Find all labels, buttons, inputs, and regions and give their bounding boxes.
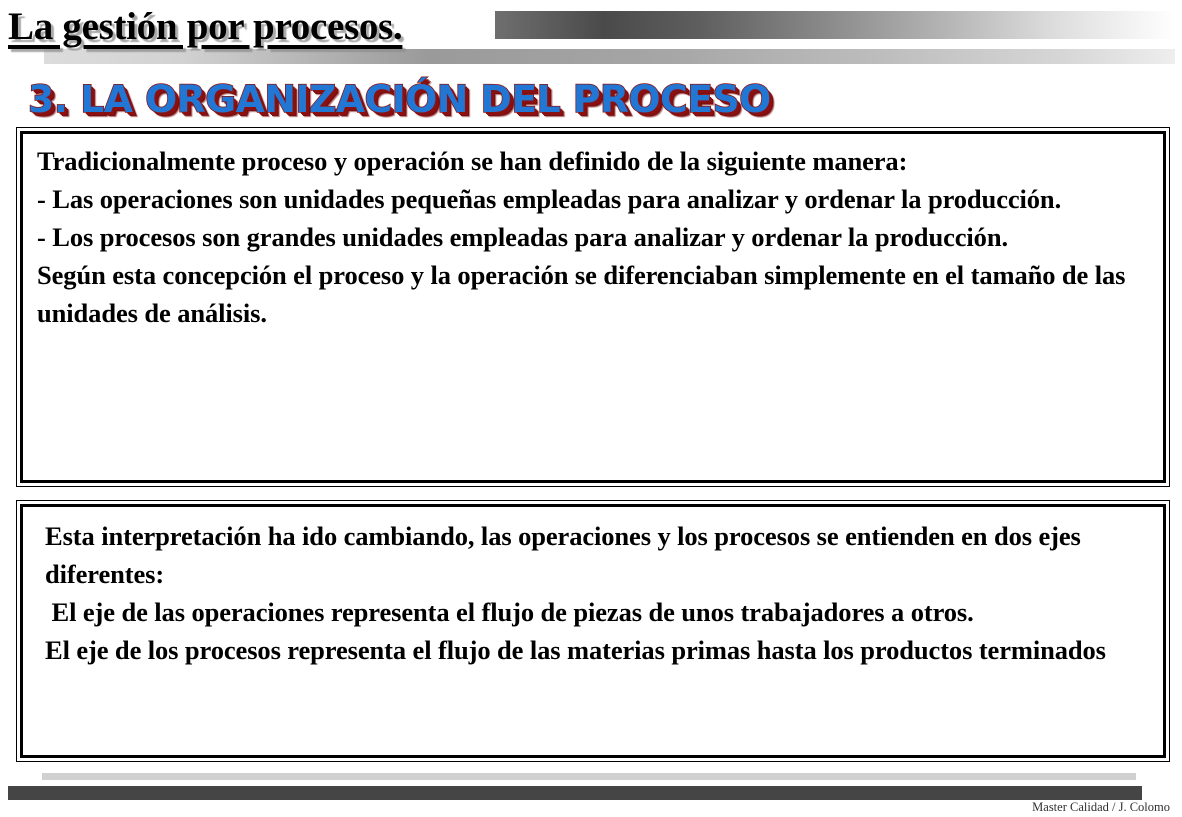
- content-box-definitions: Tradicionalmente proceso y operación se …: [16, 127, 1170, 487]
- slide-header: La gestión por procesos.: [0, 0, 1182, 70]
- content-box-inner-frame: Esta interpretación ha ido cambiando, la…: [20, 504, 1166, 758]
- footer-credit: Master Calidad / J. Colomo: [1032, 800, 1170, 815]
- content-box-text: Tradicionalmente proceso y operación se …: [37, 142, 1151, 476]
- header-gradient-bar-second: [44, 49, 1175, 64]
- content-box-text: Esta interpretación ha ido cambiando, la…: [45, 517, 1151, 751]
- page-title: La gestión por procesos.: [8, 4, 402, 49]
- content-box-inner-frame: Tradicionalmente proceso y operación se …: [20, 131, 1166, 483]
- footer-dark-bar: [8, 786, 1142, 800]
- content-box-interpretation: Esta interpretación ha ido cambiando, la…: [16, 500, 1170, 762]
- section-heading: 3. LA ORGANIZACIÓN DEL PROCESO: [28, 78, 771, 121]
- footer-light-bar: [42, 773, 1136, 780]
- header-gradient-bar-top: [495, 11, 1175, 39]
